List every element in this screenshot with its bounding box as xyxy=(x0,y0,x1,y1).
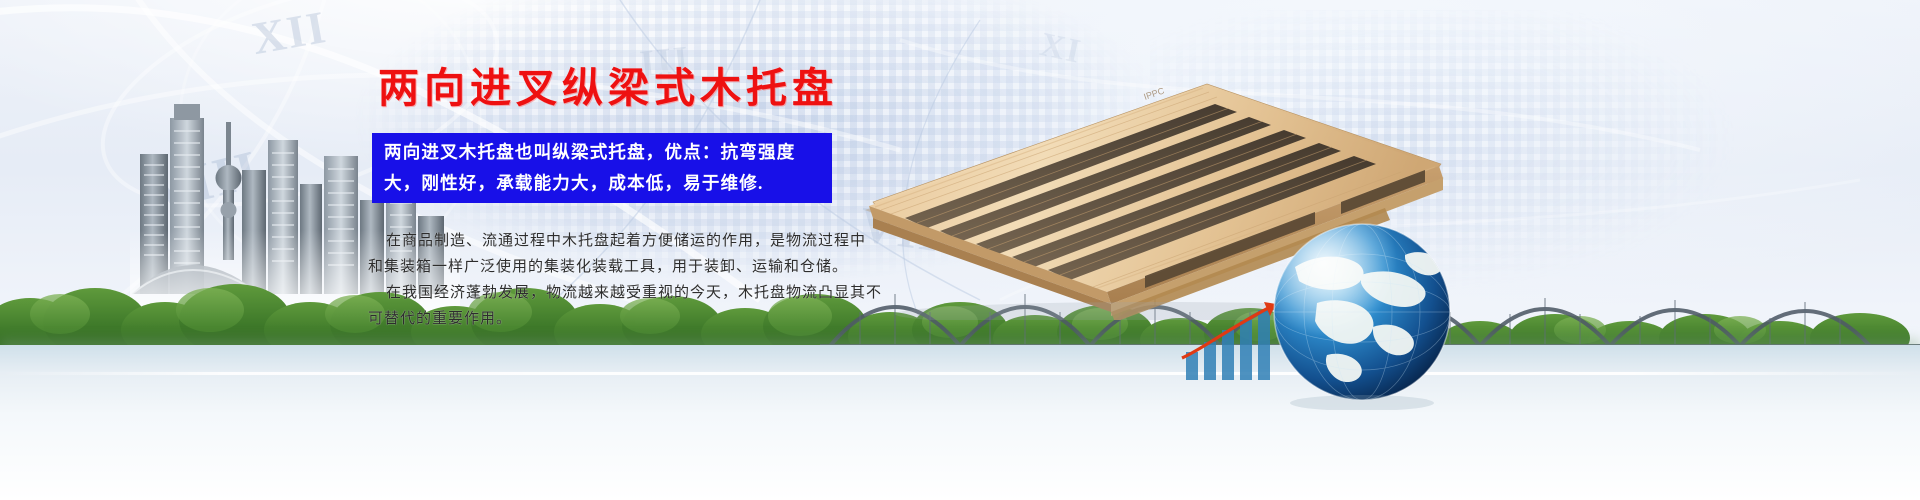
earth-globe-graphic xyxy=(1265,215,1460,410)
water-highlight-line xyxy=(0,372,1920,375)
banner-title: 两向进叉纵梁式木托盘 xyxy=(378,54,838,114)
description-line-4: 可替代的重要作用。 xyxy=(368,306,848,332)
product-banner: XII VIII VII III XI xyxy=(0,0,1920,500)
highlight-line-1: 两向进叉木托盘也叫纵梁式托盘，优点：抗弯强度 xyxy=(384,137,820,168)
description-line-2: 和集装箱一样广泛使用的集装化装载工具，用于装卸、运输和仓储。 xyxy=(368,254,848,280)
description-line-3: 在我国经济蓬勃发展，物流越来越受重视的今天，木托盘物流凸显其不 xyxy=(368,280,848,306)
description-line-1: 在商品制造、流通过程中木托盘起着方便储运的作用，是物流过程中 xyxy=(368,228,848,254)
highlight-callout-box: 两向进叉木托盘也叫纵梁式托盘，优点：抗弯强度 大，刚性好，承载能力大，成本低，易… xyxy=(372,133,832,203)
banner-description: 在商品制造、流通过程中木托盘起着方便储运的作用，是物流过程中 和集装箱一样广泛使… xyxy=(368,228,848,332)
highlight-line-2: 大，刚性好，承载能力大，成本低，易于维修. xyxy=(384,168,820,199)
water-surface xyxy=(0,345,1920,500)
